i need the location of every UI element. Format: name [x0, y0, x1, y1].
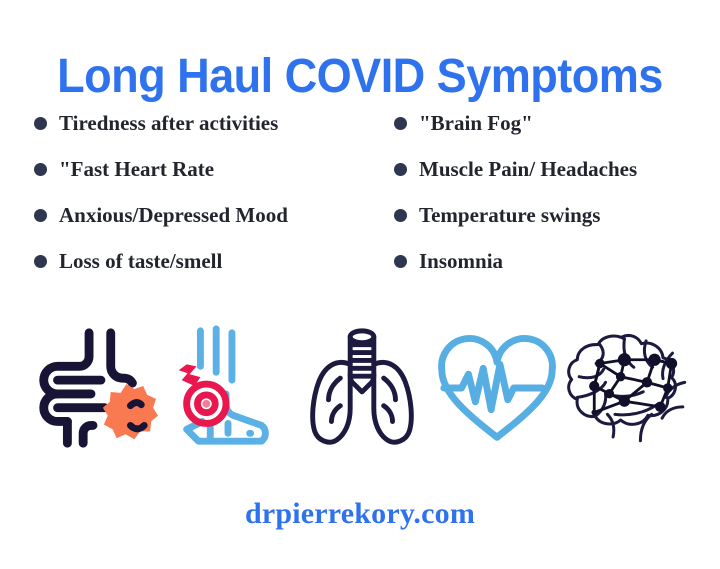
symptom-label: "Brain Fog"	[419, 110, 533, 136]
bullet-icon	[34, 255, 47, 268]
list-item: "Fast Heart Rate	[34, 156, 394, 182]
heart-pulse-icon	[432, 315, 562, 460]
foot-pain-icon	[163, 315, 293, 460]
bullet-icon	[394, 209, 407, 222]
website-link[interactable]: drpierrekory.com	[0, 495, 720, 533]
bullet-icon	[394, 117, 407, 130]
bullet-icon	[394, 163, 407, 176]
bullet-icon	[394, 255, 407, 268]
list-item: Temperature swings	[394, 202, 720, 228]
bullet-icon	[34, 117, 47, 130]
icon-strip	[28, 315, 696, 460]
symptom-list: Tiredness after activities "Brain Fog" "…	[34, 100, 720, 284]
list-item: Tiredness after activities	[34, 110, 394, 136]
list-item: Anxious/Depressed Mood	[34, 202, 394, 228]
infographic-canvas: Long Haul COVID Symptoms Tiredness after…	[0, 0, 720, 569]
symptom-label: "Fast Heart Rate	[59, 156, 214, 182]
bullet-icon	[34, 163, 47, 176]
symptom-label: Muscle Pain/ Headaches	[419, 156, 637, 182]
symptom-label: Loss of taste/smell	[59, 248, 222, 274]
symptom-label: Tiredness after activities	[59, 110, 278, 136]
lungs-icon	[297, 315, 427, 460]
list-item: Insomnia	[394, 248, 720, 274]
list-item: Muscle Pain/ Headaches	[394, 156, 720, 182]
list-item: Loss of taste/smell	[34, 248, 394, 274]
symptom-label: Temperature swings	[419, 202, 600, 228]
brain-network-icon	[566, 315, 696, 460]
symptom-label: Insomnia	[419, 248, 503, 274]
intestine-icon	[28, 315, 158, 460]
symptom-label: Anxious/Depressed Mood	[59, 202, 288, 228]
list-item: "Brain Fog"	[394, 110, 720, 136]
page-title: Long Haul COVID Symptoms	[22, 48, 699, 106]
bullet-icon	[34, 209, 47, 222]
